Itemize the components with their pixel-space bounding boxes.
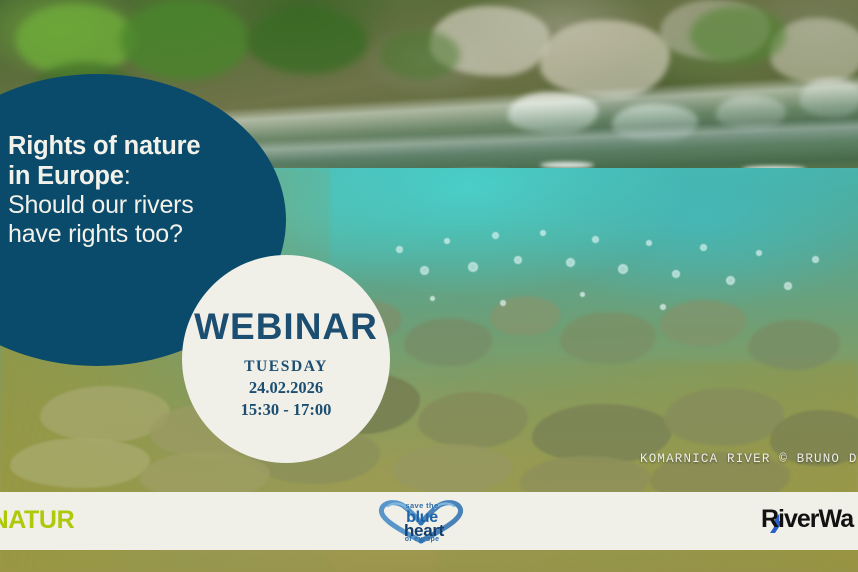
webinar-date: 24.02.2026 (182, 377, 390, 399)
air-bubble (784, 282, 792, 290)
air-bubble (430, 296, 435, 301)
air-bubble (618, 264, 628, 274)
title-colon: : (124, 162, 131, 190)
air-bubble (468, 262, 478, 272)
foliage (380, 30, 460, 80)
title-line-1: Rights of nature (8, 132, 258, 162)
air-bubble (672, 270, 680, 278)
air-bubble (514, 256, 522, 264)
foliage (120, 0, 250, 80)
title-line-4: have rights too? (8, 220, 258, 249)
air-bubble (756, 250, 762, 256)
euronatur-logo: NATUR (0, 506, 74, 535)
title-line-3: Should our rivers (8, 191, 258, 220)
webinar-day: TUESDAY (182, 357, 390, 377)
air-bubble (660, 304, 666, 310)
air-bubble (726, 276, 735, 285)
webinar-schedule: TUESDAY 24.02.2026 15:30 - 17:00 (182, 357, 390, 421)
foliage (690, 6, 786, 64)
photo-credit: KOMARNICA RIVER © BRUNO D (640, 452, 858, 466)
air-bubble (500, 300, 506, 306)
webinar-heading: WEBINAR (182, 306, 390, 348)
riverwatch-logo: RiverWa (761, 505, 853, 534)
air-bubble (700, 244, 707, 251)
air-bubble (444, 238, 450, 244)
foliage (248, 8, 368, 74)
air-bubble (580, 292, 585, 297)
title-line-2: in Europe: (8, 162, 258, 192)
page-title: Rights of nature in Europe: Should our r… (8, 132, 258, 249)
air-bubble (646, 240, 652, 246)
save-the-blue-heart-of-europe-logo: save the blue heart of europe (372, 497, 470, 545)
air-bubble (592, 236, 599, 243)
webinar-poster: Rights of nature in Europe: Should our r… (0, 0, 858, 572)
air-bubble (492, 232, 499, 239)
air-bubble (540, 230, 546, 236)
webinar-time: 15:30 - 17:00 (182, 399, 390, 421)
air-bubble (812, 256, 819, 263)
air-bubble (396, 246, 403, 253)
air-bubble (420, 266, 429, 275)
air-bubble (566, 258, 575, 267)
blue-heart-line-4: of europe (390, 536, 454, 543)
